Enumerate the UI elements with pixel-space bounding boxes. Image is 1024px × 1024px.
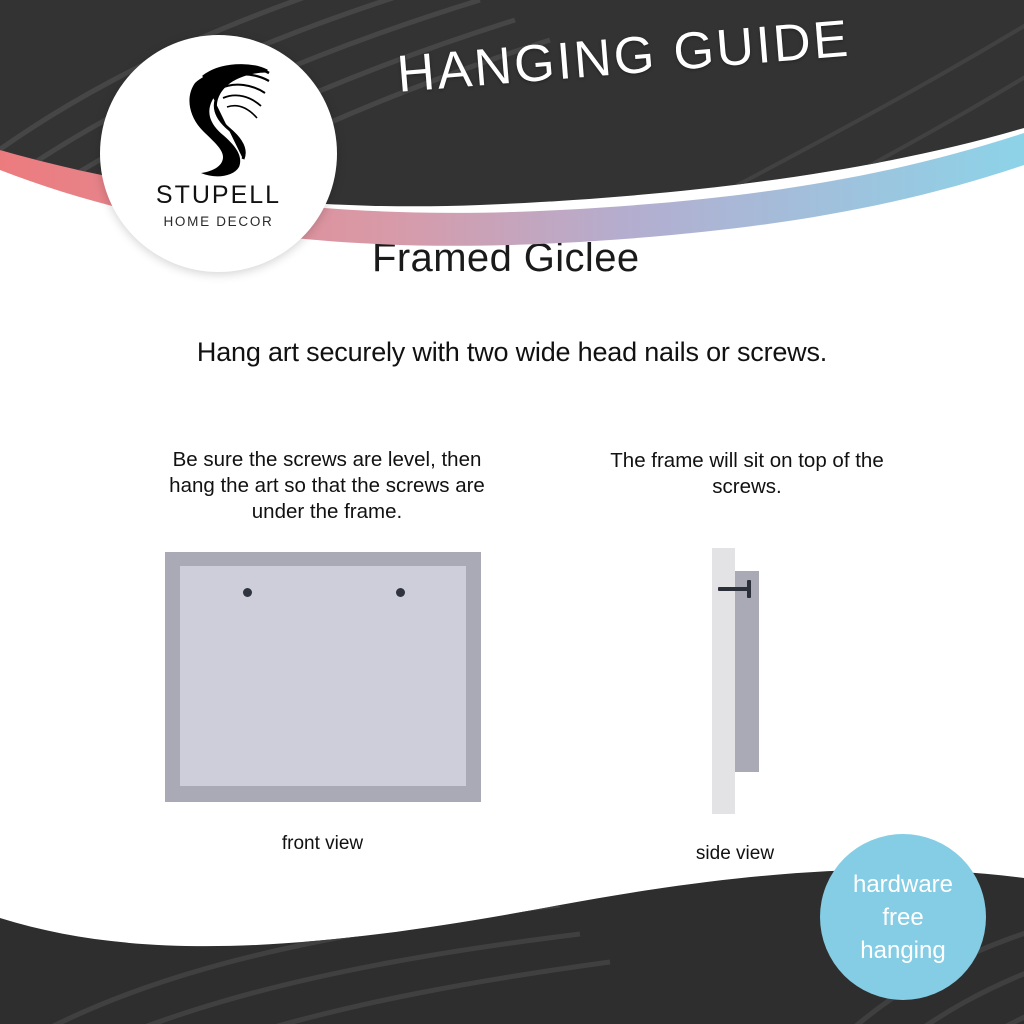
screw-dot-right [396, 588, 405, 597]
badge-line-2: free [882, 901, 923, 934]
screw-dot-left [243, 588, 252, 597]
stupell-s-swoosh-logo [159, 61, 279, 179]
side-view-frame-bar [735, 571, 759, 772]
badge-line-1: hardware [853, 868, 953, 901]
stupell-logo-badge: STUPELL HOME DECOR [100, 35, 337, 272]
logo-subwordmark: HOME DECOR [163, 215, 273, 229]
front-view-caption: Be sure the screws are level, then hang … [152, 447, 502, 525]
front-view-frame-diagram [165, 552, 481, 802]
hanging-guide-infographic: STUPELL HOME DECOR HANGING GUIDE Framed … [0, 0, 1024, 1024]
hardware-free-hanging-badge: hardware free hanging [820, 834, 986, 1000]
product-type-subtitle: Framed Giclee [372, 236, 640, 281]
badge-line-3: hanging [860, 934, 945, 967]
front-view-mat [180, 566, 466, 786]
main-instruction-text: Hang art securely with two wide head nai… [0, 337, 1024, 368]
side-view-caption: The frame will sit on top of the screws. [592, 448, 902, 500]
side-view-label: side view [640, 843, 830, 865]
logo-wordmark: STUPELL [156, 183, 281, 208]
page-title: HANGING GUIDE [370, 7, 878, 107]
nail-head-icon [747, 580, 751, 598]
front-view-label: front view [180, 833, 465, 855]
